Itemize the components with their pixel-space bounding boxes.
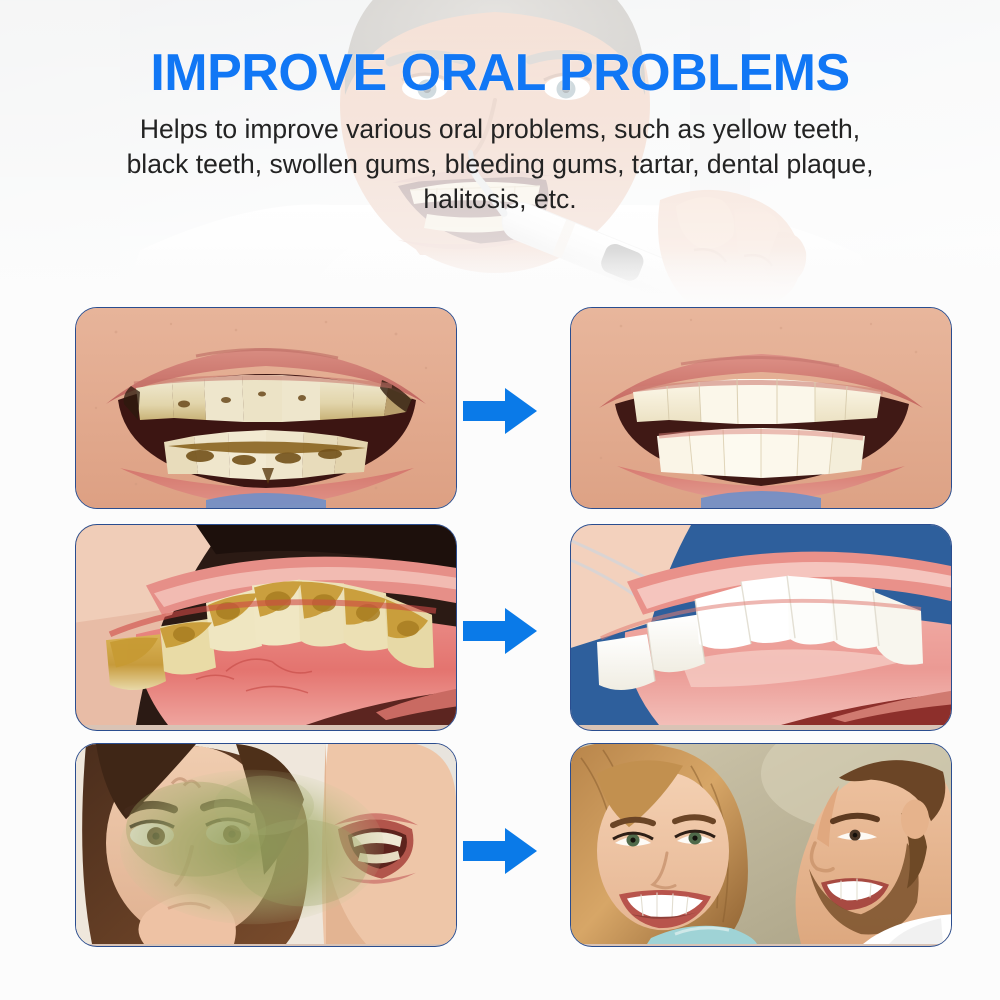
comparison-row-gums-inner: [0, 520, 1000, 740]
bad-breath-illustration: [76, 744, 456, 944]
arrow-right-glyph: [461, 385, 539, 437]
arrow-right-icon: [461, 825, 539, 877]
page-subtitle: Helps to improve various oral problems, …: [0, 112, 1000, 217]
promo-page: IMPROVE ORAL PROBLEMS Helps to improve v…: [0, 0, 1000, 1000]
arrow-right-glyph: [461, 605, 539, 657]
comparison-row-halitosis: [0, 740, 1000, 960]
before-image-stained-teeth: [75, 307, 457, 509]
after-image-happy-couple: [570, 743, 952, 947]
arrow-right-glyph: [461, 825, 539, 877]
clean-teeth-illustration: [571, 308, 951, 508]
arrow-right-icon: [461, 385, 539, 437]
header: IMPROVE ORAL PROBLEMS Helps to improve v…: [0, 0, 1000, 217]
comparison-row-teeth-front: [0, 300, 1000, 520]
subtitle-line-1: Helps to improve various oral problems, …: [52, 112, 948, 147]
before-image-bad-breath: [75, 743, 457, 947]
subtitle-line-2: black teeth, swollen gums, bleeding gums…: [52, 147, 948, 182]
arrow-right-icon: [461, 605, 539, 657]
tartar-gums-illustration: [76, 525, 456, 725]
before-after-grid: [0, 300, 1000, 960]
happy-couple-illustration: [571, 744, 951, 944]
after-image-healthy-gums: [570, 524, 952, 731]
healthy-gums-illustration: [571, 525, 951, 725]
page-title: IMPROVE ORAL PROBLEMS: [0, 0, 1000, 102]
stained-teeth-illustration: [76, 308, 456, 508]
subtitle-line-3: halitosis, etc.: [52, 182, 948, 217]
after-image-clean-teeth: [570, 307, 952, 509]
before-image-tartar-swollen-gums: [75, 524, 457, 731]
